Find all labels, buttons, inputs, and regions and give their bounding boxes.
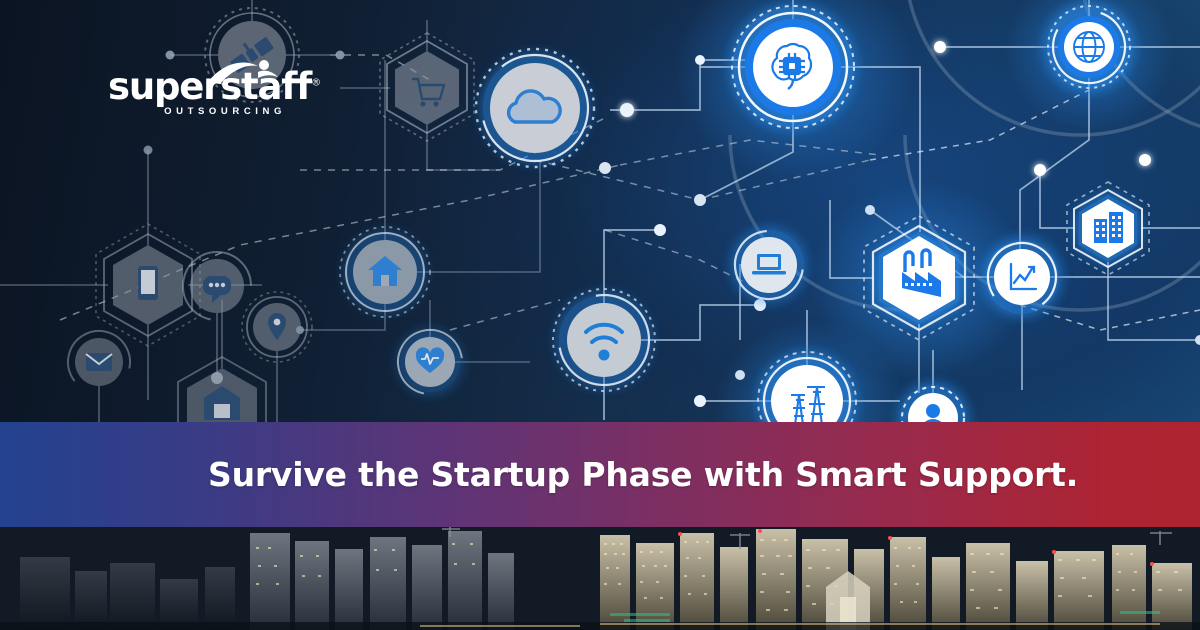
node-cloud xyxy=(460,33,609,182)
smartphone-icon xyxy=(138,266,158,300)
skyline-graphic xyxy=(0,527,1200,630)
skyline-mid-buildings xyxy=(250,531,514,630)
node-smart-home xyxy=(340,227,430,317)
node-buildings xyxy=(1067,182,1149,275)
node-laptop xyxy=(723,219,816,312)
envelope-icon xyxy=(86,353,112,371)
superstaff-logo[interactable]: superstaff® OUTSOURCING xyxy=(108,68,288,124)
swoosh-person-icon xyxy=(208,60,294,86)
headline-text: Survive the Startup Phase with Smart Sup… xyxy=(0,455,1078,494)
promo-banner-image: superstaff® OUTSOURCING Survive the Star… xyxy=(0,0,1200,630)
city-skyline xyxy=(0,527,1200,630)
registered-mark: ® xyxy=(311,78,320,89)
headline-banner: Survive the Startup Phase with Smart Sup… xyxy=(0,422,1200,527)
laptop-icon xyxy=(752,254,786,275)
node-wifi xyxy=(541,277,668,404)
